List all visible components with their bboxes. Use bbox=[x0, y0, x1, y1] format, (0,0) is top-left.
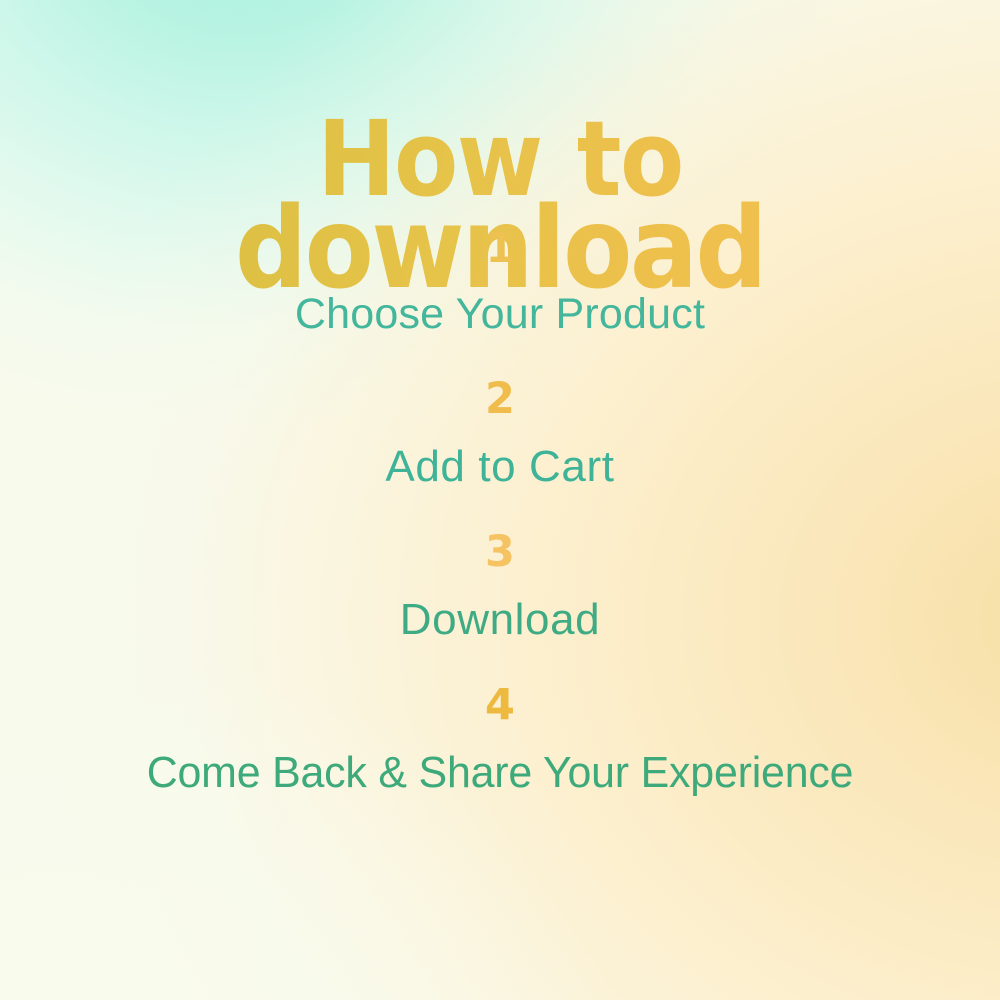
step-number-1: 1 bbox=[0, 228, 1000, 269]
step-label-4: Come Back & Share Your Experience bbox=[13, 747, 988, 799]
step-number-2: 2 bbox=[0, 378, 1000, 421]
step-number-4: 4 bbox=[0, 684, 1000, 727]
step-label-1: Choose Your Product bbox=[0, 289, 1000, 340]
step-label-2: Add to Cart bbox=[0, 441, 1000, 493]
step-label-3: Download bbox=[0, 594, 1000, 646]
step-item-3: 3 Download bbox=[0, 531, 1000, 646]
step-number-3: 3 bbox=[0, 531, 1000, 574]
poster-canvas: How to download 1 Choose Your Product 2 … bbox=[0, 0, 1000, 1000]
step-item-4: 4 Come Back & Share Your Experience bbox=[0, 684, 1000, 799]
step-item-2: 2 Add to Cart bbox=[0, 378, 1000, 493]
step-item-1: 1 Choose Your Product bbox=[0, 228, 1000, 340]
steps-list: 1 Choose Your Product 2 Add to Cart 3 Do… bbox=[0, 228, 1000, 836]
poster-content: How to download 1 Choose Your Product 2 … bbox=[0, 0, 1000, 1000]
